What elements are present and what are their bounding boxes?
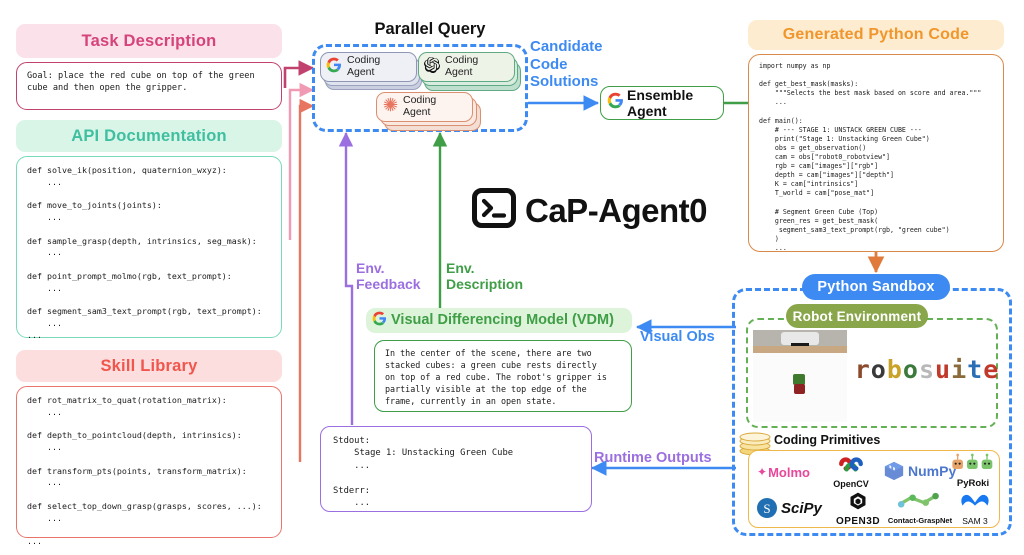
robot-environment-label: Robot Environment — [793, 309, 922, 324]
opencv-logo — [836, 453, 866, 475]
molmo-logo: ✦ — [757, 465, 767, 479]
api-documentation-title: API Documentation — [71, 127, 227, 146]
agent-card-label-b: CodingAgent — [445, 55, 478, 79]
agent-card-front[interactable]: CodingAgent — [320, 52, 417, 82]
python-sandbox-label: Python Sandbox — [817, 279, 934, 295]
vdm-description-text: In the center of the scene, there are tw… — [385, 348, 621, 408]
runtime-outputs-label: Runtime Outputs — [594, 450, 712, 467]
agent-card-front-b[interactable]: CodingAgent — [418, 52, 515, 82]
open3d-logo — [847, 491, 869, 511]
sam3-label: SAM 3 — [953, 516, 997, 526]
task-description-panel: Goal: place the red cube on top of the g… — [16, 62, 282, 110]
candidate-code-solutions-label: Candidate Code Solutions — [530, 38, 620, 91]
primitive-contact-graspnet: Contact-GraspNet — [887, 491, 953, 525]
robot-environment-title: Robot Environment — [786, 304, 928, 328]
scipy-logo: S — [755, 496, 779, 520]
primitive-open3d: OPEN3D — [829, 491, 887, 525]
coding-primitives-title: Coding Primitives — [774, 433, 880, 447]
pyroki-label: PyRoki — [949, 478, 997, 489]
contact-graspnet-logo — [893, 491, 947, 511]
openai-icon — [424, 57, 440, 78]
sim-table-edge — [753, 346, 847, 353]
coding-agent-card-google[interactable]: CodingAgent — [320, 52, 424, 92]
vdm-title: Visual Differencing Model (VDM) — [391, 312, 614, 329]
api-documentation-code: def solve_ik(position, quaternion_wxyz):… — [27, 165, 271, 342]
vdm-description-panel: In the center of the scene, there are tw… — [374, 340, 632, 412]
numpy-logo — [883, 460, 905, 482]
task-description-title: Task Description — [82, 32, 217, 51]
visual-obs-label: Visual Obs — [640, 329, 715, 346]
opencv-label: OpenCV — [825, 479, 877, 489]
open3d-label: OPEN3D — [829, 516, 887, 527]
agent-card-label-c: CodingAgent — [403, 95, 436, 119]
robosuite-wordmark: robosuite — [862, 352, 992, 386]
brand-logo: CaP-Agent0 — [472, 188, 707, 233]
task-description-text: Goal: place the red cube on top of the g… — [27, 70, 271, 94]
anthropic-claude-icon — [382, 96, 399, 118]
google-gemini-icon — [326, 57, 342, 78]
primitive-sam3: SAM 3 — [953, 491, 997, 525]
ensemble-agent-label: Ensemble Agent — [627, 87, 717, 119]
sim-red-cube — [794, 384, 805, 394]
api-documentation-panel: def solve_ik(position, quaternion_wxyz):… — [16, 156, 282, 338]
terminal-prompt-icon — [472, 188, 516, 233]
skill-library-title: Skill Library — [100, 357, 197, 376]
generated-code-text: import numpy as np def get_best_mask(mas… — [759, 62, 993, 252]
skill-library-header: Skill Library — [16, 350, 282, 382]
coding-agent-card-openai[interactable]: CodingAgent — [418, 52, 522, 92]
coding-agent-card-claude[interactable]: CodingAgent — [376, 92, 484, 134]
pyroki-logo — [951, 453, 995, 473]
ensemble-agent-box[interactable]: Ensemble Agent — [600, 86, 724, 120]
simulation-viewport — [753, 330, 847, 422]
google-g-icon — [607, 92, 624, 114]
primitive-pyroki: PyRoki — [949, 453, 997, 489]
api-documentation-header: API Documentation — [16, 120, 282, 152]
brand-name: CaP-Agent0 — [525, 192, 707, 230]
svg-text:S: S — [763, 501, 770, 516]
scipy-label: SciPy — [781, 500, 822, 517]
skill-library-code: def rot_matrix_to_quat(rotation_matrix):… — [27, 395, 271, 548]
agent-card-front-c[interactable]: CodingAgent — [376, 92, 473, 122]
agent-card-label: CodingAgent — [347, 55, 380, 79]
runtime-output-panel: Stdout: Stage 1: Unstacking Green Cube .… — [320, 426, 592, 512]
sam3-logo — [958, 491, 992, 511]
primitive-scipy: S SciPy — [755, 493, 829, 523]
coding-primitives-panel: ✦ Molmo OpenCV NumPy PyRoki S Sci — [748, 450, 1000, 528]
task-description-header: Task Description — [16, 24, 282, 58]
generated-code-title: Generated Python Code — [783, 26, 969, 44]
vdm-header: Visual Differencing Model (VDM) — [366, 308, 632, 333]
skill-library-panel: def rot_matrix_to_quat(rotation_matrix):… — [16, 386, 282, 538]
generated-code-header: Generated Python Code — [748, 20, 1004, 50]
parallel-query-title: Parallel Query — [330, 20, 530, 39]
contact-graspnet-label: Contact-GraspNet — [887, 516, 953, 525]
env-feedback-label: Env. Feedback — [356, 260, 421, 292]
molmo-label: Molmo — [768, 465, 810, 480]
python-sandbox-title: Python Sandbox — [802, 274, 950, 300]
primitive-molmo: ✦ Molmo — [757, 457, 819, 487]
primitive-opencv: OpenCV — [825, 453, 877, 489]
env-description-label: Env. Description — [446, 260, 523, 292]
generated-code-panel: import numpy as np def get_best_mask(mas… — [748, 54, 1004, 252]
runtime-output-text: Stdout: Stage 1: Unstacking Green Cube .… — [333, 435, 579, 510]
google-g-icon-vdm — [372, 311, 387, 331]
